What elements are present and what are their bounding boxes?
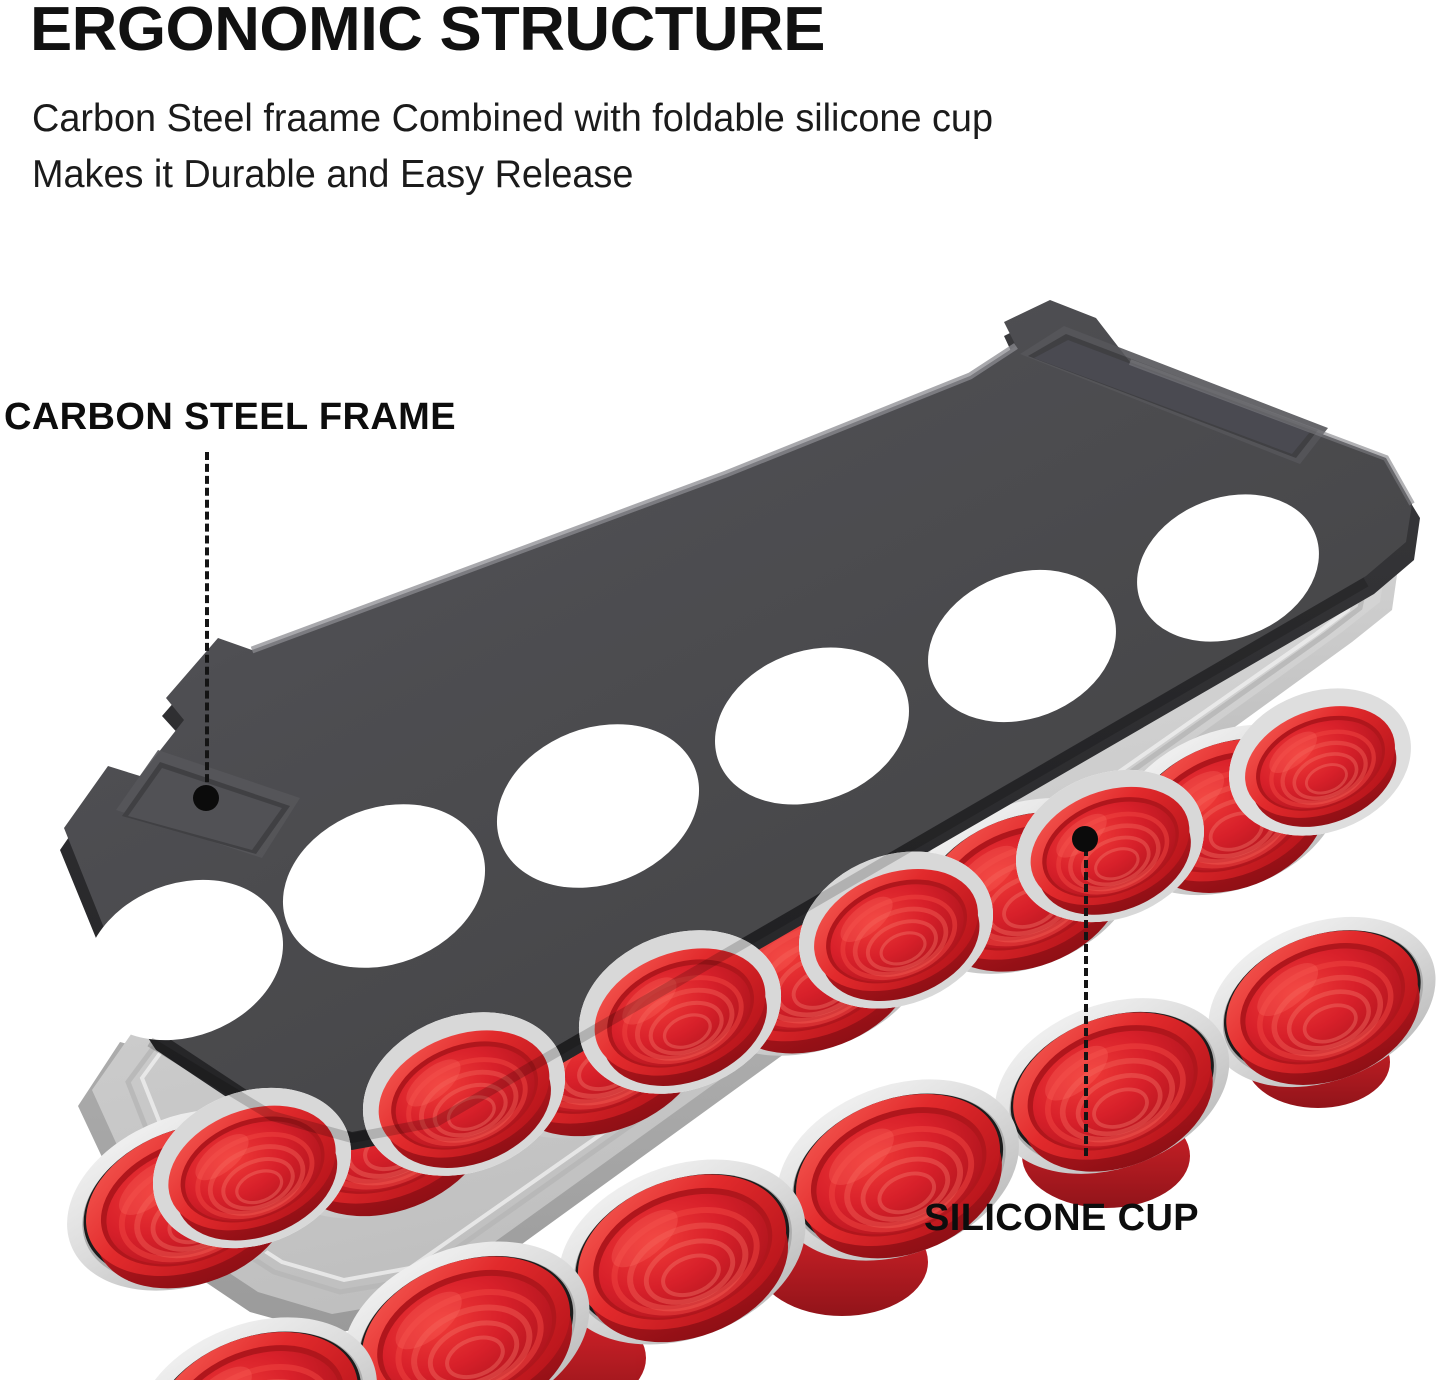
subtitle-line-1: Carbon Steel fraame Combined with foldab… — [32, 96, 993, 142]
silicone-cup-marker-dot — [1072, 826, 1098, 852]
page-title: ERGONOMIC STRUCTURE — [30, 0, 825, 62]
callout-label-silicone-cup: SILICONE CUP — [924, 1197, 1199, 1240]
carbon-steel-frame-marker-dot — [193, 785, 219, 811]
callout-label-carbon-steel-frame: CARBON STEEL FRAME — [4, 396, 456, 439]
carbon-steel-frame-leader-line — [205, 452, 209, 794]
infographic-canvas: ERGONOMIC STRUCTURE Carbon Steel fraame … — [0, 0, 1445, 1377]
subtitle-line-2: Makes it Durable and Easy Release — [32, 152, 633, 198]
silicone-cup-leader-line — [1084, 848, 1088, 1156]
